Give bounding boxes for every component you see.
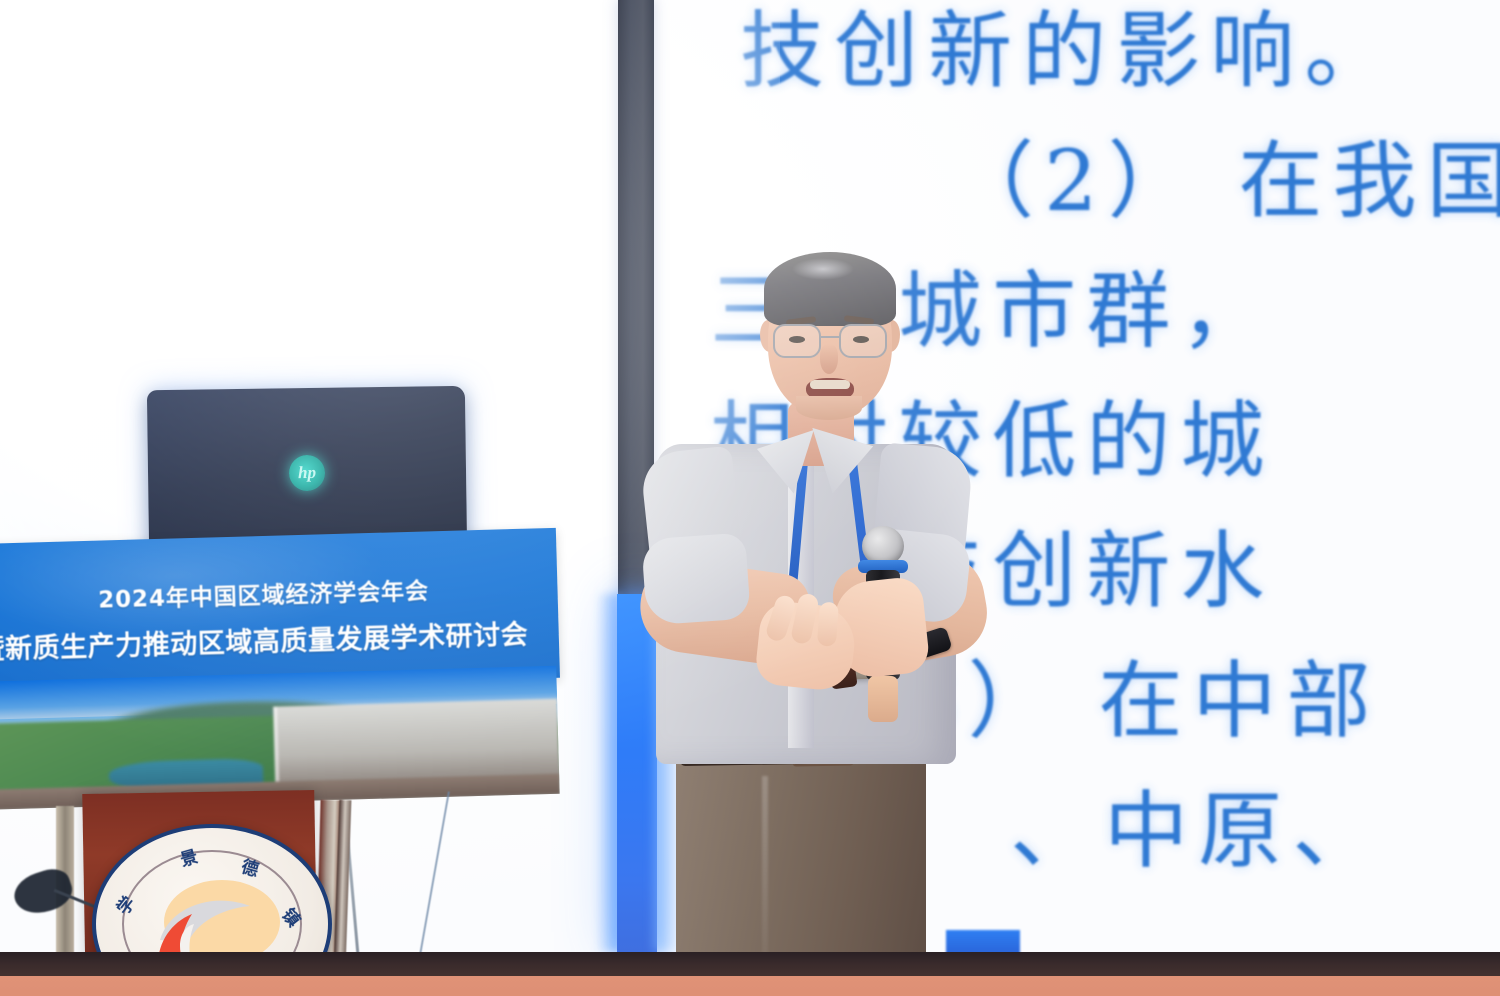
stage-floor xyxy=(0,976,1500,996)
lens-right xyxy=(839,324,887,358)
chin xyxy=(796,396,862,420)
sleeve-left xyxy=(641,532,751,625)
microphone-grip xyxy=(868,676,898,722)
conference-photo: 技创新的影响。 （2） 在我国 三角城市群， 相对较低的城 市科技创新水 （3）… xyxy=(0,0,1500,996)
hair-highlight xyxy=(792,258,854,280)
slide-line-2: （2） 在我国 xyxy=(620,116,1500,246)
glasses-bridge xyxy=(821,336,839,338)
cityscape-photo-panel xyxy=(0,666,560,810)
speaker-hair xyxy=(764,252,896,326)
hp-logo-icon: hp xyxy=(289,455,325,491)
teeth xyxy=(810,380,850,389)
finger-ring-left xyxy=(817,602,839,647)
laptop-lid[interactable]: hp xyxy=(147,386,467,554)
speaker-figure: 2024年 年会 xyxy=(640,236,1060,996)
slide-line-1: 技创新的影响。 xyxy=(620,0,1500,116)
nose xyxy=(820,344,838,374)
lens-left xyxy=(773,324,821,358)
